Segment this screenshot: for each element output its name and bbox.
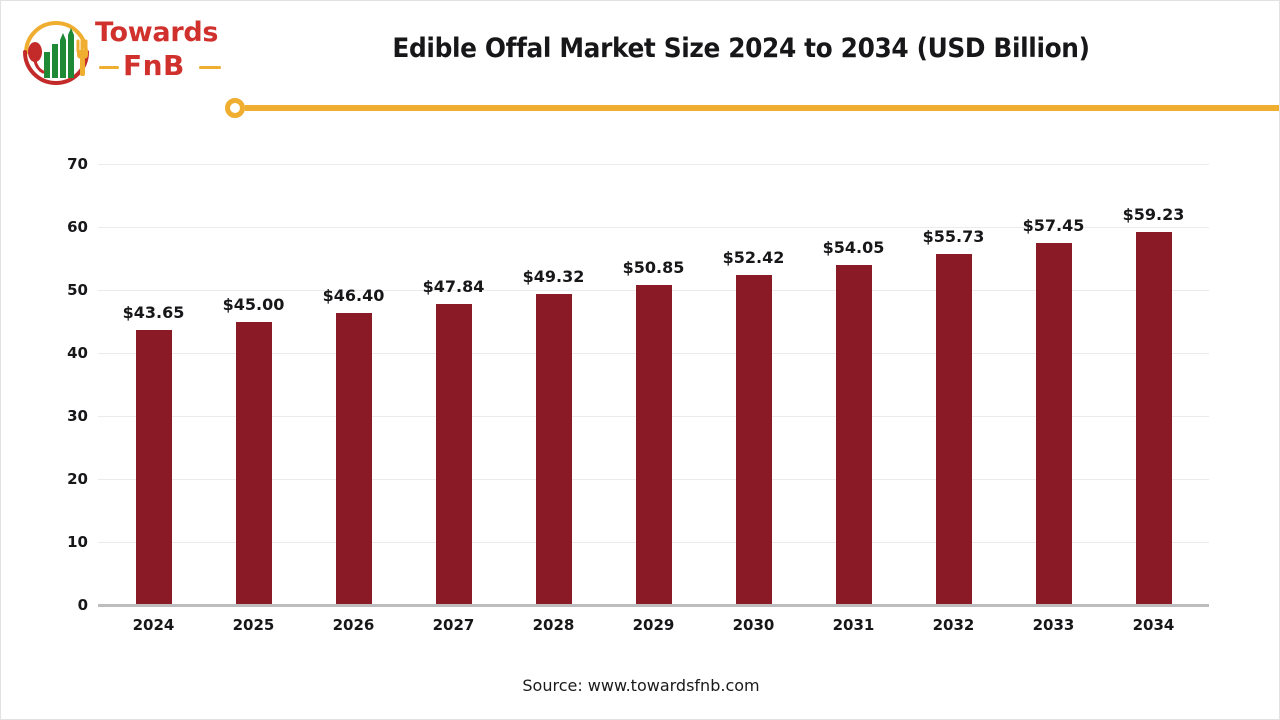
bar[interactable] [536, 294, 572, 605]
x-axis-tick-label: 2032 [933, 616, 975, 634]
bar[interactable] [1136, 232, 1172, 605]
x-axis-tick-label: 2026 [333, 616, 375, 634]
bar-value-label: $50.85 [623, 258, 685, 277]
y-axis-tick-label: 10 [48, 533, 88, 551]
y-axis-tick-label: 60 [48, 218, 88, 236]
source-caption: Source: www.towardsfnb.com [1, 676, 1280, 695]
bar-value-label: $43.65 [123, 303, 185, 322]
bar-group[interactable]: $59.232034 [1104, 164, 1204, 605]
bar-value-label: $57.45 [1023, 216, 1085, 235]
bar[interactable] [236, 322, 272, 606]
bar-group[interactable]: $43.652024 [104, 164, 204, 605]
x-axis-tick-label: 2031 [833, 616, 875, 634]
bar-value-label: $46.40 [323, 286, 385, 305]
chart-page: Towards FnB Edible Offal Market Size 202… [0, 0, 1280, 720]
x-axis-tick-label: 2024 [133, 616, 175, 634]
plot-area: $43.652024$45.002025$46.402026$47.842027… [98, 164, 1209, 605]
bar-group[interactable]: $45.002025 [204, 164, 304, 605]
bar-group[interactable]: $57.452033 [1004, 164, 1104, 605]
y-axis-tick-label: 40 [48, 344, 88, 362]
y-axis-tick-label: 0 [48, 596, 88, 614]
bar[interactable] [1036, 243, 1072, 605]
bar[interactable] [336, 313, 372, 605]
bar-value-label: $47.84 [423, 277, 485, 296]
bar-group[interactable]: $46.402026 [304, 164, 404, 605]
accent-dot-icon [225, 98, 245, 118]
x-axis-tick-label: 2025 [233, 616, 275, 634]
accent-rule [245, 105, 1280, 111]
x-axis-tick-label: 2030 [733, 616, 775, 634]
bar[interactable] [836, 265, 872, 606]
bar-group[interactable]: $54.052031 [804, 164, 904, 605]
bar-group[interactable]: $50.852029 [604, 164, 704, 605]
y-axis: 010203040506070 [38, 1, 98, 720]
logo-word-fnb: FnB [123, 50, 185, 82]
chart-title: Edible Offal Market Size 2024 to 2034 (U… [272, 33, 1210, 64]
bar[interactable] [936, 254, 972, 605]
x-axis-line [98, 604, 1209, 607]
bar-group[interactable]: $49.322028 [504, 164, 604, 605]
x-axis-tick-label: 2033 [1033, 616, 1075, 634]
bar-value-label: $49.32 [523, 267, 585, 286]
x-axis-tick-label: 2028 [533, 616, 575, 634]
bar-group[interactable]: $55.732032 [904, 164, 1004, 605]
bar[interactable] [636, 285, 672, 605]
bar-group[interactable]: $52.422030 [704, 164, 804, 605]
bar-value-label: $52.42 [723, 248, 785, 267]
x-axis-tick-label: 2029 [633, 616, 675, 634]
bar-group[interactable]: $47.842027 [404, 164, 504, 605]
brand-logo-text: Towards FnB [95, 17, 225, 91]
y-axis-tick-label: 20 [48, 470, 88, 488]
y-axis-tick-label: 50 [48, 281, 88, 299]
logo-word-towards: Towards [95, 17, 218, 49]
x-axis-tick-label: 2027 [433, 616, 475, 634]
bar-value-label: $54.05 [823, 238, 885, 257]
y-axis-tick-label: 30 [48, 407, 88, 425]
bar-value-label: $59.23 [1123, 205, 1185, 224]
logo-dash-right [199, 66, 221, 69]
bar[interactable] [136, 330, 172, 605]
bar-value-label: $55.73 [923, 227, 985, 246]
bar-value-label: $45.00 [223, 295, 285, 314]
y-axis-tick-label: 70 [48, 155, 88, 173]
bar[interactable] [736, 275, 772, 605]
logo-dash-left [99, 66, 119, 69]
bar[interactable] [436, 304, 472, 605]
x-axis-tick-label: 2034 [1133, 616, 1175, 634]
